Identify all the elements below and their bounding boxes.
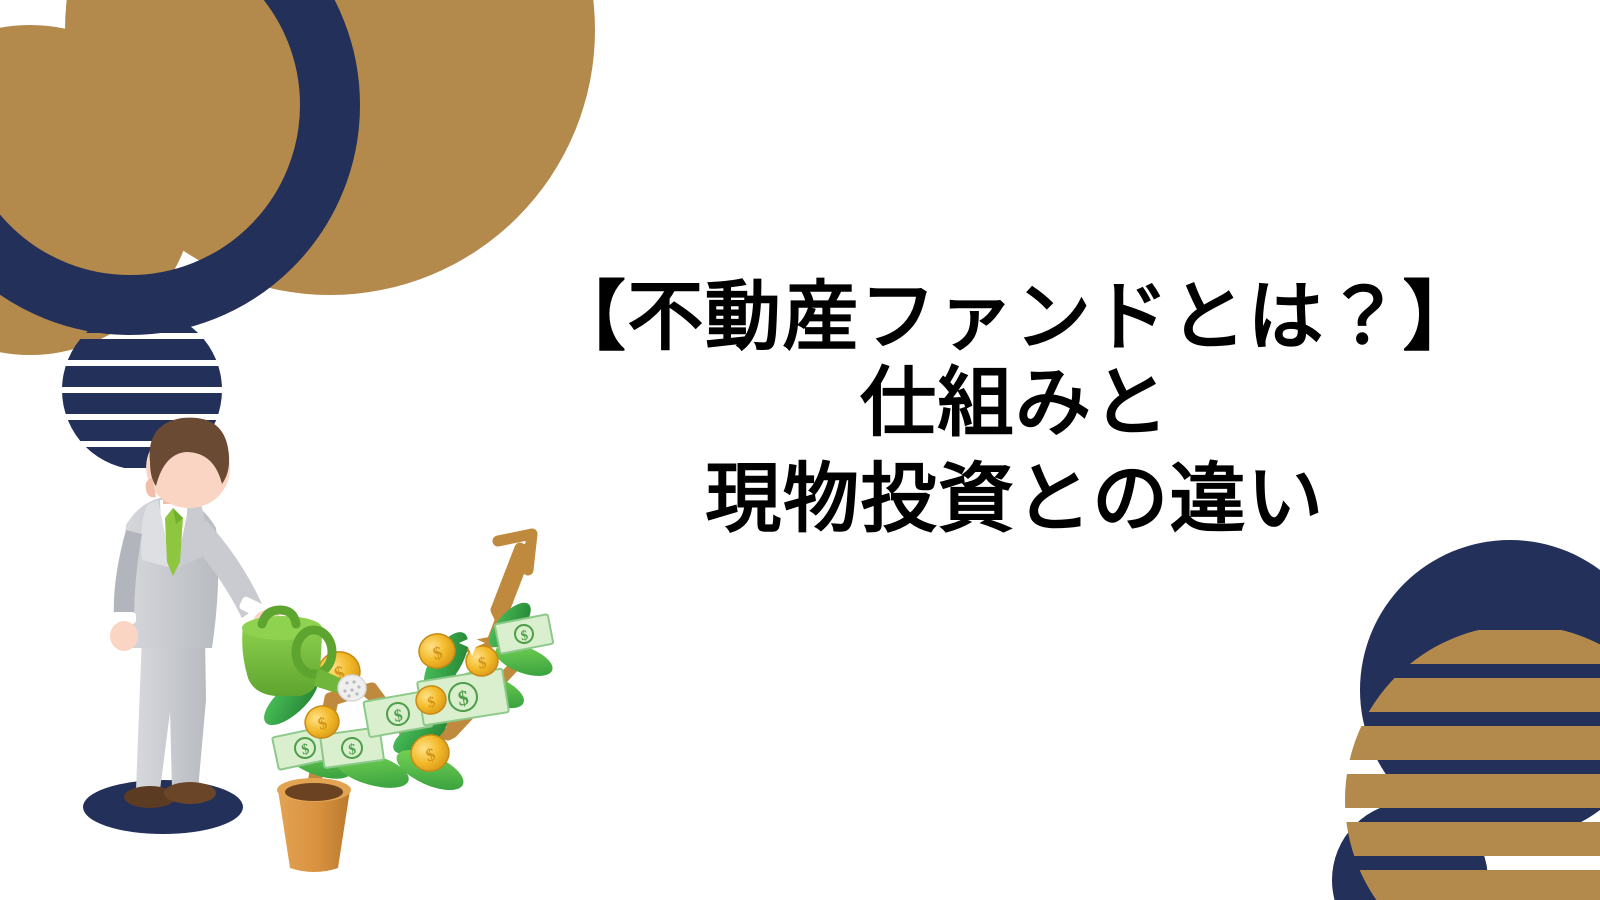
illustration-layer: $ $ $ $ xyxy=(0,0,1600,900)
money-plant: $ $ $ $ xyxy=(256,534,556,872)
can-sprinkler-head xyxy=(338,675,366,701)
hand-left xyxy=(110,621,138,651)
shoe-front xyxy=(164,782,216,804)
plant-pot xyxy=(277,778,351,872)
trousers xyxy=(136,636,206,790)
poster-canvas: $ $ $ $ xyxy=(0,0,1600,900)
